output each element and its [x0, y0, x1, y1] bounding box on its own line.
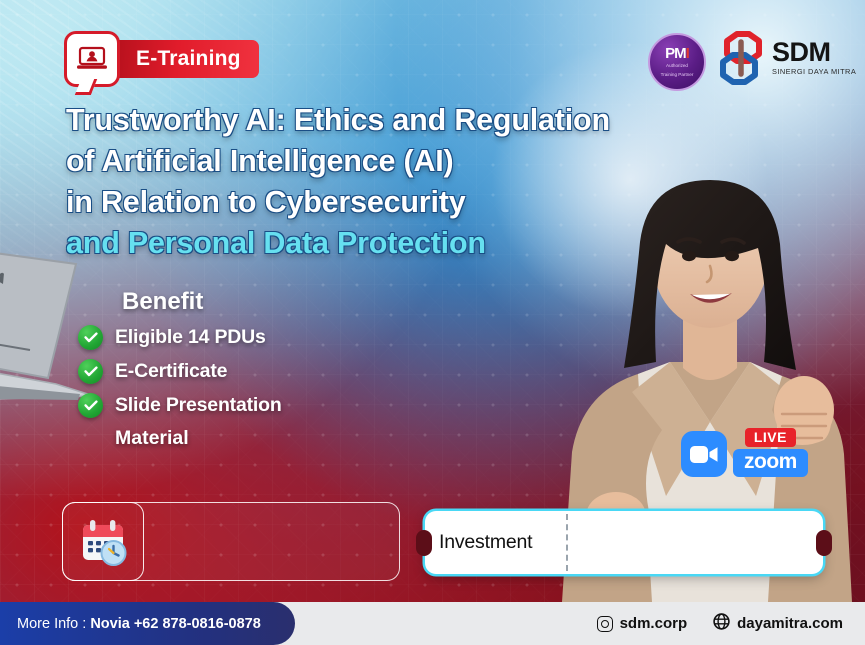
- pmi-partner-line2: Training Partner: [661, 72, 694, 78]
- globe-icon: [713, 613, 730, 634]
- benefit-section: Benefit Eligible 14 PDUs E-Certificate S…: [78, 288, 282, 450]
- training-promo-banner: E-Training PMI Authorized Training Partn…: [0, 0, 865, 645]
- benefit-item: Eligible 14 PDUs: [78, 325, 282, 350]
- title-line-4: and Personal Data Protection: [66, 223, 706, 264]
- live-badge: LIVE: [745, 428, 796, 447]
- zoom-wordmark-group: LIVE zoom: [733, 428, 808, 477]
- laptop-person-icon: [64, 31, 120, 87]
- check-icon: [78, 359, 103, 384]
- sdm-tagline: SINERGI DAYA MITRA: [772, 67, 856, 76]
- benefit-item-label: E-Certificate: [115, 360, 227, 383]
- ticket-perforation-divider: [566, 514, 568, 571]
- check-icon: [78, 325, 103, 350]
- sdm-logomark-icon: [718, 30, 764, 86]
- contact-name-phone: Novia +62 878-0816-0878: [90, 616, 261, 632]
- e-training-label: E-Training: [111, 40, 259, 78]
- pmi-mark: PMI: [665, 46, 689, 61]
- investment-ticket: Investment: [425, 511, 823, 574]
- schedule-value: [159, 503, 387, 582]
- instagram-link[interactable]: sdm.corp: [597, 615, 688, 632]
- zoom-wordmark: zoom: [733, 449, 808, 477]
- more-info-label: More Info :: [17, 616, 86, 632]
- website-link[interactable]: dayamitra.com: [713, 613, 843, 634]
- benefit-item-continuation: Material: [115, 427, 282, 450]
- more-info-block: More Info : Novia +62 878-0816-0878: [0, 602, 295, 645]
- instagram-handle: sdm.corp: [620, 615, 688, 632]
- check-icon: [78, 393, 103, 418]
- live-zoom-badge: LIVE zoom: [681, 428, 808, 477]
- e-training-badge: E-Training: [64, 31, 259, 87]
- sdm-wordmark: SDM SINERGI DAYA MITRA: [772, 40, 856, 77]
- pmi-mark-i: I: [686, 45, 689, 62]
- video-camera-icon: [681, 431, 727, 477]
- title-line-2: of Artificial Intelligence (AI): [66, 141, 706, 182]
- pmi-mark-pm: PM: [665, 45, 686, 62]
- pmi-authorized-training-partner-badge: PMI Authorized Training Partner: [648, 33, 706, 91]
- page-title: Trustworthy AI: Ethics and Regulation of…: [66, 100, 706, 264]
- social-links: sdm.corp dayamitra.com: [597, 602, 843, 645]
- benefit-heading: Benefit: [122, 288, 282, 316]
- benefit-item: Slide Presentation: [78, 393, 282, 418]
- title-line-3: in Relation to Cybersecurity: [66, 182, 706, 223]
- benefit-item: E-Certificate: [78, 359, 282, 384]
- pmi-partner-line1: Authorized: [666, 63, 688, 69]
- investment-label: Investment: [425, 531, 566, 554]
- schedule-box: [62, 502, 400, 581]
- title-line-1: Trustworthy AI: Ethics and Regulation: [66, 100, 706, 141]
- calendar-clock-icon: [62, 502, 144, 581]
- benefit-item-label: Eligible 14 PDUs: [115, 326, 266, 349]
- footer-bar: More Info : Novia +62 878-0816-0878 sdm.…: [0, 602, 865, 645]
- instagram-icon: [597, 616, 613, 632]
- sdm-logo: SDM SINERGI DAYA MITRA: [718, 30, 856, 86]
- website-url: dayamitra.com: [737, 615, 843, 632]
- sdm-name: SDM: [772, 40, 856, 66]
- benefit-item-label: Slide Presentation: [115, 394, 282, 417]
